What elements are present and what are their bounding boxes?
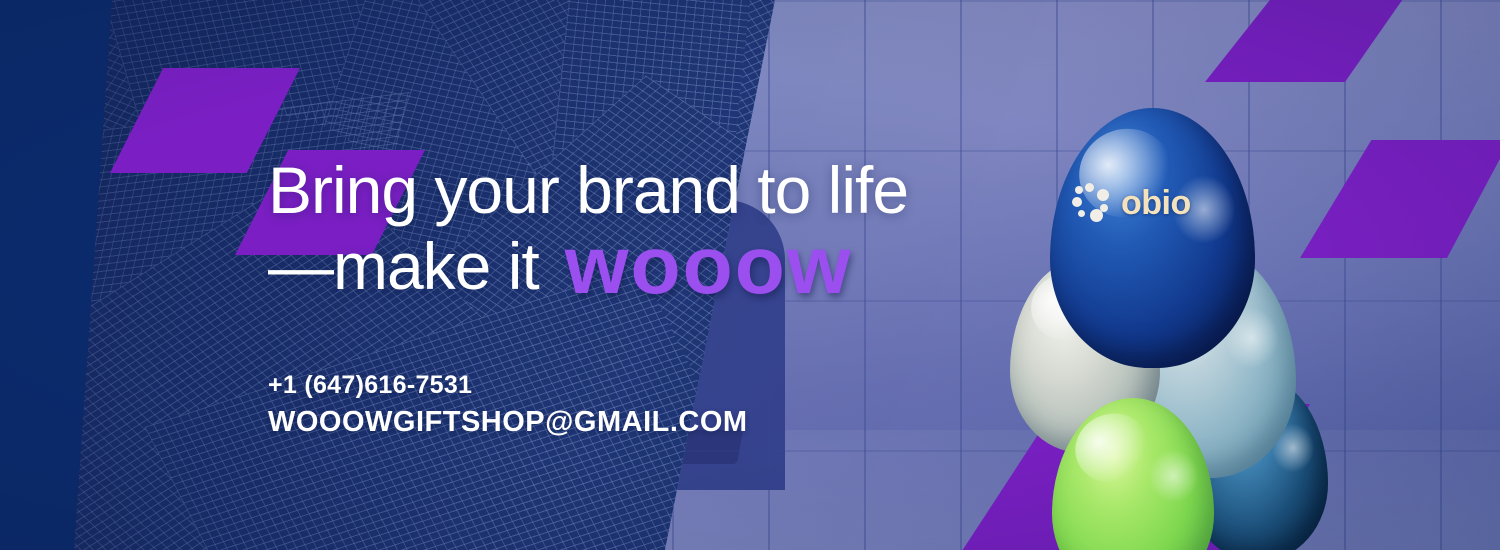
phone-number[interactable]: +1 (647)616-7531	[268, 368, 748, 402]
headline-line-2: —make itwooow	[268, 228, 908, 304]
balloon-highlight	[1149, 450, 1198, 502]
balloon-cluster	[1010, 108, 1310, 550]
headline-line-2-prefix: —make it	[268, 229, 539, 303]
obio-logo: obio	[1072, 183, 1191, 223]
headline: Bring your brand to life —make itwooow	[268, 152, 908, 304]
obio-wordmark: obio	[1121, 184, 1191, 223]
email-address[interactable]: WOOOWGIFTSHOP@GMAIL.COM	[268, 402, 748, 442]
balloon-navy-obio	[1050, 108, 1255, 368]
contact-block: +1 (647)616-7531 WOOOWGIFTSHOP@GMAIL.COM	[268, 368, 748, 442]
promo-banner: Bring your brand to life —make itwooow +…	[0, 0, 1500, 550]
dot-ring-icon	[1072, 183, 1112, 223]
headline-line-1: Bring your brand to life	[268, 153, 908, 227]
brand-wordmark: wooow	[565, 220, 853, 311]
